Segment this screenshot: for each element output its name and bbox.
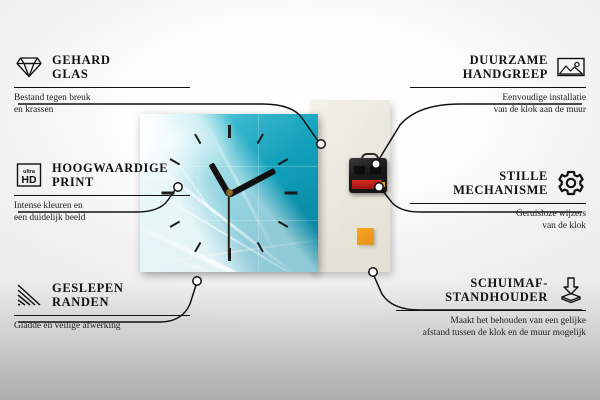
feature-subtitle-line1: Gladde en veilige afwerking bbox=[14, 321, 120, 331]
feature-subtitle-line1: Bestand tegen breuk bbox=[14, 93, 91, 103]
feature-subtitle-line1: Eenvoudige installatie bbox=[502, 93, 586, 103]
feature-title-line2: RANDEN bbox=[52, 295, 109, 309]
feature-title-line1: STILLE bbox=[499, 169, 548, 183]
feature-subtitle-line2: en krassen bbox=[14, 105, 53, 115]
divider bbox=[410, 87, 586, 88]
feature-title-line2: MECHANISME bbox=[453, 183, 548, 197]
feature-subtitle-line2: van de klok aan de muur bbox=[494, 105, 586, 115]
picture-frame-icon bbox=[556, 52, 586, 82]
feature-subtitle-line2: afstand tussen de klok en de muur mogeli… bbox=[423, 328, 586, 338]
feature-subtitle-line1: Intense kleuren en bbox=[14, 201, 83, 211]
feature-title-line2: HANDGREEP bbox=[463, 67, 548, 81]
feature-hoogwaardige-print: ultra HD HOOGWAARDIGE PRINT Intense kleu… bbox=[14, 160, 190, 224]
feature-gehard-glas: GEHARD GLAS Bestand tegen breuk en krass… bbox=[14, 52, 190, 116]
feature-title-line2: PRINT bbox=[52, 175, 94, 189]
feature-title-line1: GEHARD bbox=[52, 53, 110, 67]
divider bbox=[14, 195, 190, 196]
divider bbox=[14, 87, 190, 88]
divider bbox=[396, 310, 586, 311]
divider bbox=[410, 203, 586, 204]
feature-title-line2: STANDHOUDER bbox=[445, 290, 548, 304]
feature-subtitle-line1: Maakt het behouden van een gelijke bbox=[450, 316, 586, 326]
divider bbox=[14, 315, 190, 316]
spacer-stamp-icon bbox=[556, 275, 586, 305]
feature-title-line1: DUURZAME bbox=[470, 53, 548, 67]
gear-icon bbox=[556, 168, 586, 198]
feature-subtitle-line1: Geruisloze wijzers bbox=[516, 209, 586, 219]
feature-schuimafstandhouder: SCHUIMAF- STANDHOUDER Maakt het behouden… bbox=[396, 275, 586, 339]
feature-duurzame-handgreep: DUURZAME HANDGREEP Eenvoudige installati… bbox=[410, 52, 586, 116]
beveled-edge-icon bbox=[14, 280, 44, 310]
feature-subtitle-line2: een duidelijk beeld bbox=[14, 213, 85, 223]
feature-title-line1: GESLEPEN bbox=[52, 281, 124, 295]
feature-title-line1: SCHUIMAF- bbox=[470, 276, 548, 290]
feature-stille-mechanisme: STILLE MECHANISME Geruisloze wijzers van… bbox=[410, 168, 586, 232]
product-infographic: GEHARD GLAS Bestand tegen breuk en krass… bbox=[0, 0, 600, 400]
feature-subtitle-line2: van de klok bbox=[542, 221, 586, 231]
svg-text:HD: HD bbox=[21, 174, 37, 186]
feature-title-line1: HOOGWAARDIGE bbox=[52, 161, 168, 175]
feature-geslepen-randen: GESLEPEN RANDEN Gladde en veilige afwerk… bbox=[14, 280, 190, 333]
feature-title-line2: GLAS bbox=[52, 67, 88, 81]
ultra-hd-icon: ultra HD bbox=[14, 160, 44, 190]
diamond-icon bbox=[14, 52, 44, 82]
